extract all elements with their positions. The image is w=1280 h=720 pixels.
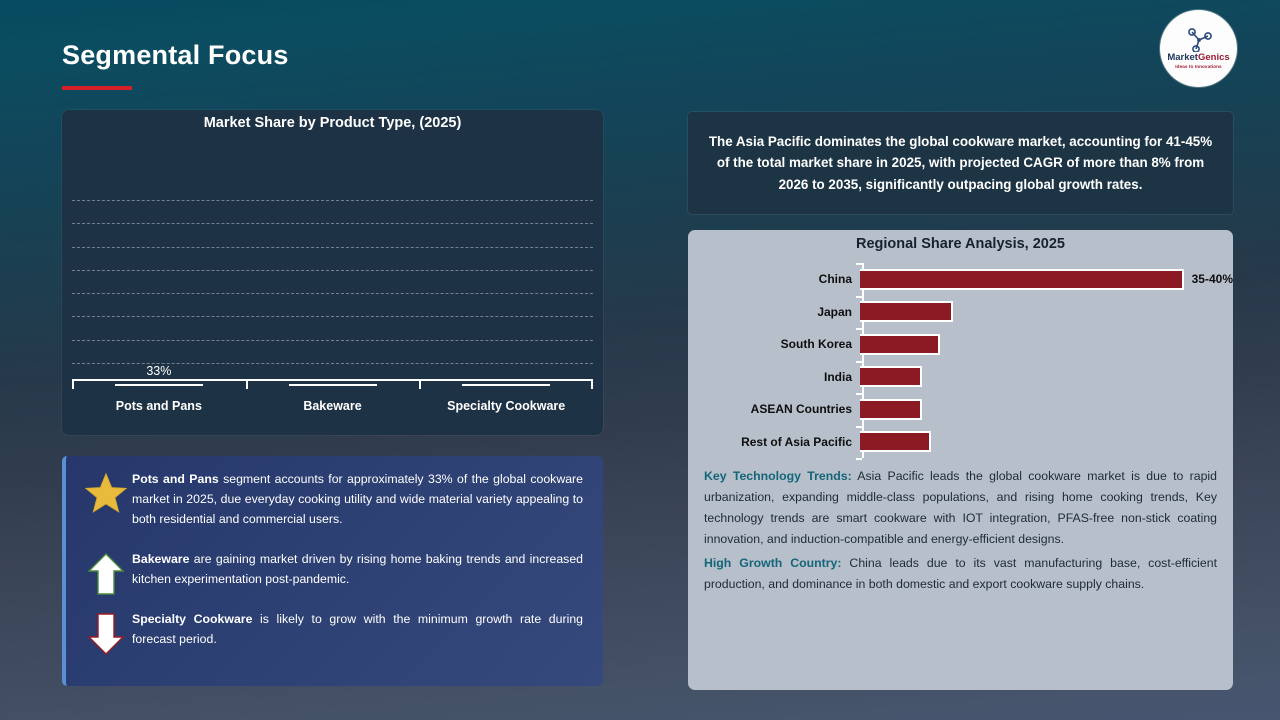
note-text-bakeware: Bakeware are gaining market driven by ri… xyxy=(132,550,587,590)
x-axis-labels: Pots and PansBakewareSpecialty Cookware xyxy=(72,399,593,413)
hbar-row: ASEAN Countries xyxy=(688,393,1233,426)
hbar-label-china: China xyxy=(688,272,860,286)
vertical-bars-group: 33% xyxy=(72,200,593,386)
hbar-track xyxy=(860,361,1233,394)
note-item-specialty-cookware: Specialty Cookware is likely to grow wit… xyxy=(80,610,587,662)
hbar-row: India xyxy=(688,361,1233,394)
hbar-row: Rest of Asia Pacific xyxy=(688,426,1233,459)
logo-word-market: Market xyxy=(1167,52,1198,63)
hbar-asean-countries[interactable] xyxy=(860,399,922,420)
y-axis-tick xyxy=(856,393,862,395)
segment-notes-panel: Pots and Pans segment accounts for appro… xyxy=(62,456,603,686)
note-bold-specialty-cookware: Specialty Cookware xyxy=(132,612,252,626)
logo-word-genics: Genics xyxy=(1198,52,1230,63)
hbar-label-south-korea: South Korea xyxy=(688,337,860,351)
y-axis-tick xyxy=(856,328,862,330)
x-axis-label: Pots and Pans xyxy=(72,399,246,413)
hbar-label-rest-of-asia-pacific: Rest of Asia Pacific xyxy=(688,435,860,449)
bar-value-label: 33% xyxy=(146,364,171,378)
y-axis-tick xyxy=(856,361,862,363)
horizontal-bars-group: China35-40%JapanSouth KoreaIndiaASEAN Co… xyxy=(688,263,1233,458)
x-axis-label: Bakeware xyxy=(246,399,420,413)
logo-wordmark: MarketGenics xyxy=(1167,53,1229,63)
note-item-pots-and-pans: Pots and Pans segment accounts for appro… xyxy=(80,470,587,542)
hbar-track: 35-40% xyxy=(860,263,1233,296)
hbar-track xyxy=(860,328,1233,361)
callout-text: The Asia Pacific dominates the global co… xyxy=(702,131,1219,195)
hbar-track xyxy=(860,393,1233,426)
hbar-row: China35-40% xyxy=(688,263,1233,296)
page-title: Segmental Focus xyxy=(62,40,289,71)
hbar-japan[interactable] xyxy=(860,301,953,322)
y-axis-tick xyxy=(856,458,862,460)
x-axis xyxy=(72,379,593,387)
note-bold-pots-and-pans: Pots and Pans xyxy=(132,472,219,486)
hbar-south-korea[interactable] xyxy=(860,334,940,355)
note-text-specialty-cookware: Specialty Cookware is likely to grow wit… xyxy=(132,610,587,650)
hbar-row: South Korea xyxy=(688,328,1233,361)
product-type-chart-panel: Market Share by Product Type, (2025) 33%… xyxy=(62,110,603,435)
note-item-bakeware: Bakeware are gaining market driven by ri… xyxy=(80,550,587,602)
asia-pacific-callout-panel: The Asia Pacific dominates the global co… xyxy=(688,112,1233,214)
y-axis-tick xyxy=(856,296,862,298)
note-rest-bakeware: are gaining market driven by rising home… xyxy=(132,552,583,586)
heading-key-technology-trends: Key Technology Trends: xyxy=(704,469,852,483)
product-type-chart-title: Market Share by Product Type, (2025) xyxy=(62,110,603,131)
paragraph-key-technology-trends: Key Technology Trends: Asia Pacific lead… xyxy=(704,466,1217,551)
heading-high-growth-country: High Growth Country: xyxy=(704,556,841,570)
paragraph-high-growth-country: High Growth Country: China leads due to … xyxy=(704,553,1217,595)
arrow-down-icon xyxy=(80,610,132,656)
hbar-label-japan: Japan xyxy=(688,305,860,319)
star-icon xyxy=(80,470,132,514)
regional-share-panel: Regional Share Analysis, 2025 China35-40… xyxy=(688,230,1233,690)
note-bold-bakeware: Bakeware xyxy=(132,552,189,566)
hbar-china[interactable] xyxy=(860,269,1184,290)
regional-chart-title: Regional Share Analysis, 2025 xyxy=(688,230,1233,252)
hbar-track xyxy=(860,426,1233,459)
y-axis-tick xyxy=(856,426,862,428)
hbar-rest-of-asia-pacific[interactable] xyxy=(860,431,931,452)
regional-analysis-text: Key Technology Trends: Asia Pacific lead… xyxy=(688,458,1233,595)
company-logo: MarketGenics Ideas to Innovations xyxy=(1160,10,1237,87)
hbar-row: Japan xyxy=(688,296,1233,329)
y-axis-tick xyxy=(856,263,862,265)
hbar-value-label: 35-40% xyxy=(1192,272,1233,286)
molecule-node-icon xyxy=(1184,28,1214,52)
x-axis-label: Specialty Cookware xyxy=(419,399,593,413)
product-type-plot-area: 33% xyxy=(72,200,593,386)
logo-tagline: Ideas to Innovations xyxy=(1175,64,1221,69)
hbar-label-india: India xyxy=(688,370,860,384)
hbar-india[interactable] xyxy=(860,366,922,387)
hbar-label-asean-countries: ASEAN Countries xyxy=(688,402,860,416)
arrow-up-icon xyxy=(80,550,132,596)
hbar-track xyxy=(860,296,1233,329)
title-underline-rule xyxy=(62,86,132,90)
note-text-pots-and-pans: Pots and Pans segment accounts for appro… xyxy=(132,470,587,530)
